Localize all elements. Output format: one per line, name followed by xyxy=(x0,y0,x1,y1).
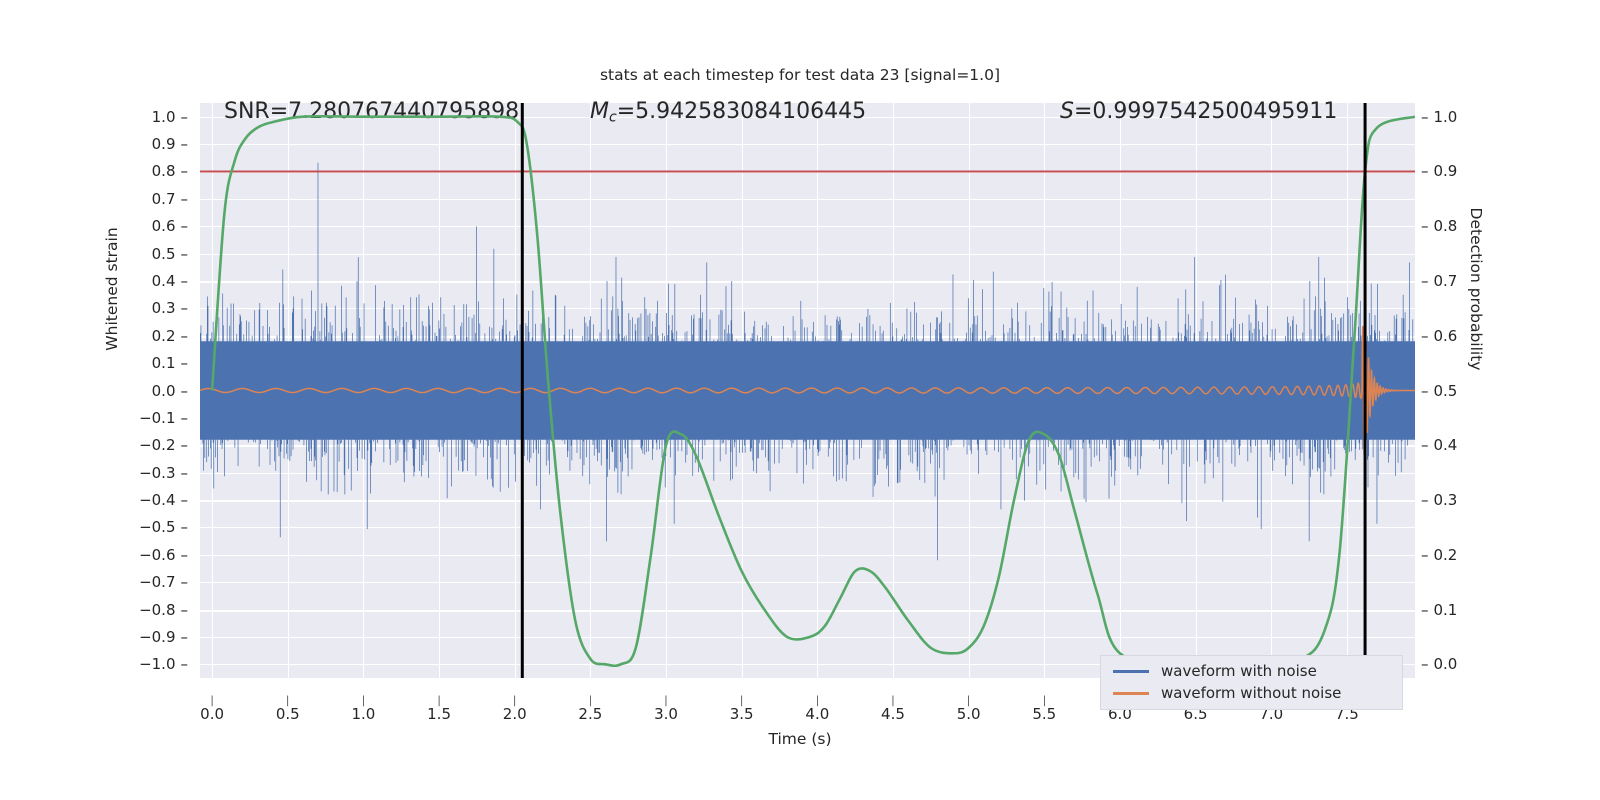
x-tick-label: │5.5 xyxy=(1032,698,1056,723)
x-tick-label: │1.0 xyxy=(351,698,375,723)
y-tick-label-left: −0.8– xyxy=(139,601,188,619)
series-waveform-with-noise xyxy=(200,163,1414,560)
y-tick-label-left: −0.7– xyxy=(139,573,188,591)
y-tick-label-left: 0.5– xyxy=(152,245,188,263)
x-tick-label: │0.5 xyxy=(276,698,300,723)
y-tick-label-left: 0.0– xyxy=(152,382,188,400)
y-tick-label-left: −0.6– xyxy=(139,546,188,564)
y-tick-label-left: −0.4– xyxy=(139,491,188,509)
y-tick-label-left: 0.7– xyxy=(152,190,188,208)
y-tick-label-left: −1.0– xyxy=(139,655,188,673)
y-tick-label-right: –0.3 xyxy=(1421,491,1457,509)
y-tick-label-right: –0.7 xyxy=(1421,272,1457,290)
x-tick-label: │3.5 xyxy=(730,698,754,723)
legend-label: waveform without noise xyxy=(1161,684,1341,702)
y-tick-label-left: −0.1– xyxy=(139,409,188,427)
legend-label: waveform with noise xyxy=(1161,662,1317,680)
y-tick-label-left: 0.1– xyxy=(152,354,188,372)
x-tick-label: │3.0 xyxy=(654,698,678,723)
x-tick-label: │2.0 xyxy=(503,698,527,723)
y-tick-label-left: −0.3– xyxy=(139,464,188,482)
legend-swatch-icon xyxy=(1113,692,1149,695)
x-axis-label: Time (s) xyxy=(0,730,1600,748)
y-tick-label-right: –0.1 xyxy=(1421,601,1457,619)
y-tick-label-left: 0.8– xyxy=(152,162,188,180)
legend-item[interactable]: waveform with noise xyxy=(1101,660,1402,682)
y-tick-label-right: –0.0 xyxy=(1421,655,1457,673)
y-tick-label-right: –0.8 xyxy=(1421,217,1457,235)
y-tick-label-right: –0.6 xyxy=(1421,327,1457,345)
y-tick-label-left: 0.9– xyxy=(152,135,188,153)
y-tick-label-right: –0.9 xyxy=(1421,162,1457,180)
y-tick-label-left: 0.3– xyxy=(152,299,188,317)
y-axis-right-label: Detection probability xyxy=(1467,169,1485,409)
y-tick-label-left: 1.0– xyxy=(152,108,188,126)
y-axis-left-label: Whitened strain xyxy=(103,169,121,409)
y-tick-label-left: −0.2– xyxy=(139,436,188,454)
figure: stats at each timestep for test data 23 … xyxy=(0,0,1600,800)
legend-swatch-icon xyxy=(1113,670,1149,673)
x-tick-label: │5.0 xyxy=(957,698,981,723)
x-tick-label: │4.5 xyxy=(881,698,905,723)
legend-item[interactable]: waveform without noise xyxy=(1101,682,1402,704)
y-tick-label-right: –0.5 xyxy=(1421,382,1457,400)
y-tick-label-left: 0.2– xyxy=(152,327,188,345)
x-tick-label: │2.5 xyxy=(578,698,602,723)
x-tick-label: │1.5 xyxy=(427,698,451,723)
y-tick-label-left: 0.4– xyxy=(152,272,188,290)
x-tick-label: │0.0 xyxy=(200,698,224,723)
x-tick-label: │4.0 xyxy=(805,698,829,723)
legend: waveform with noisewaveform without nois… xyxy=(1100,655,1403,710)
y-tick-label-right: –0.4 xyxy=(1421,436,1457,454)
y-tick-label-right: –0.2 xyxy=(1421,546,1457,564)
noise-trace xyxy=(200,163,1414,560)
y-tick-label-left: −0.5– xyxy=(139,518,188,536)
y-tick-label-right: –1.0 xyxy=(1421,108,1457,126)
y-tick-label-left: 0.6– xyxy=(152,217,188,235)
y-tick-label-left: −0.9– xyxy=(139,628,188,646)
